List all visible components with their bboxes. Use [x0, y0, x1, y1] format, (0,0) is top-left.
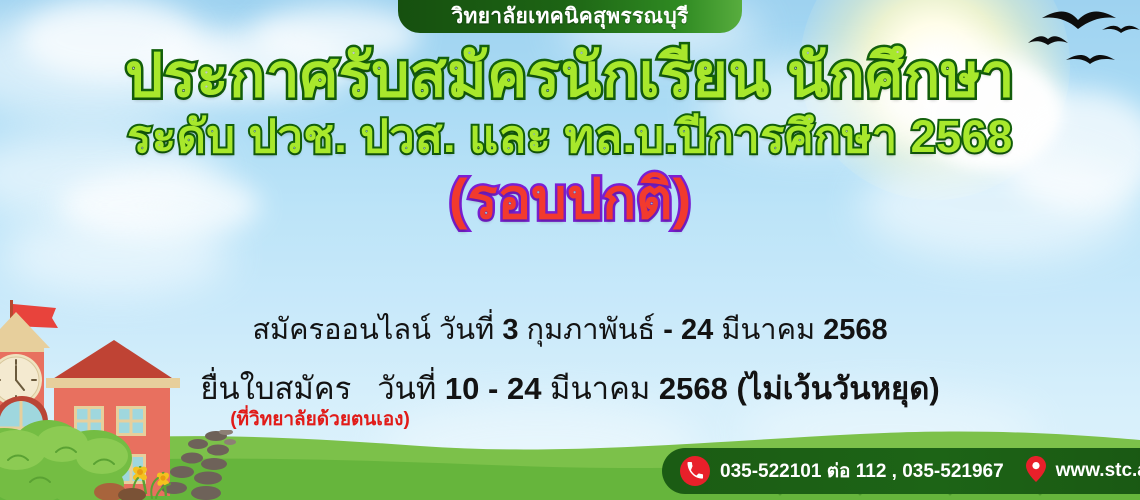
contact-footer-bar: 035-522101 ต่อ 112 , 035-521967 www.stc.… — [662, 448, 1140, 494]
website-url: www.stc.ac.th — [1056, 460, 1140, 482]
online-dash: - — [663, 314, 681, 346]
phone-number: 035-522101 ต่อ 112 , 035-521967 — [720, 456, 1004, 486]
institution-banner: วิทยาลัยเทคนิคสุพรรณบุรี — [398, 0, 742, 33]
submit-sub-note: (ที่วิทยาลัยด้วยตนเอง) — [205, 404, 435, 434]
submit-application-line: ยื่นใบสมัครวันที่ 10 - 24 มีนาคม 2568 (ไ… — [0, 363, 1140, 413]
online-day-end: 24 — [681, 314, 713, 346]
headline-line-2: ระดับ ปวช. ปวส. และ ทล.บ.ปีการศึกษา 2568 — [0, 113, 1140, 160]
submit-month: มีนาคม — [541, 371, 658, 406]
submit-day-range: 10 - 24 — [445, 371, 542, 406]
online-month-end: มีนาคม — [713, 314, 823, 346]
poster-canvas: วิทยาลัยเทคนิคสุพรรณบุรี ประกาศรับสมัครน… — [0, 0, 1140, 500]
green-bushes-icon — [0, 408, 230, 500]
submit-note: (ไม่เว้นวันหยุด) — [728, 371, 940, 406]
submit-year: 2568 — [659, 371, 728, 406]
online-month-start: กุมภาพันธ์ — [518, 314, 663, 346]
online-day-start: 3 — [502, 314, 518, 346]
online-label: สมัครออนไลน์ วันที่ — [252, 314, 502, 346]
online-year: 2568 — [823, 314, 888, 346]
submit-prefix: วันที่ — [377, 371, 445, 406]
headline-line-1: ประกาศรับสมัครนักเรียน นักศึกษา — [0, 44, 1140, 107]
institution-name: วิทยาลัยเทคนิคสุพรรณบุรี — [451, 0, 688, 33]
submit-label: ยื่นใบสมัคร — [200, 371, 377, 406]
phone-icon — [680, 456, 710, 486]
headline-line-3: (รอบปกติ) — [0, 170, 1140, 229]
online-application-line: สมัครออนไลน์ วันที่ 3 กุมภาพันธ์ - 24 มี… — [0, 306, 1140, 352]
headline-group: ประกาศรับสมัครนักเรียน นักศึกษา ระดับ ปว… — [0, 44, 1140, 229]
location-pin-icon — [1026, 456, 1046, 487]
